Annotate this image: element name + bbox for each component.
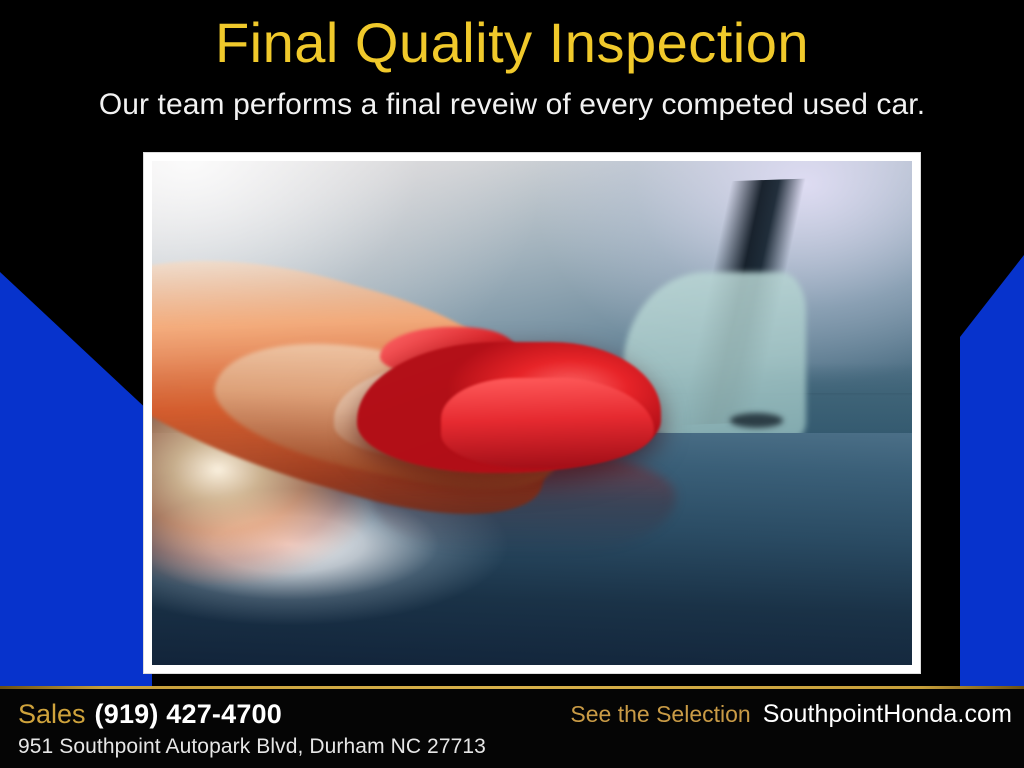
photo-red-cloth-front: [441, 378, 654, 469]
photo-glass-speck: [730, 413, 783, 428]
slide-canvas: Final Quality Inspection Our team perfor…: [0, 0, 1024, 768]
blue-wedge-left: [0, 258, 152, 688]
blue-wedge-right: [924, 255, 1024, 688]
dealership-address: 951 Southpoint Autopark Blvd, Durham NC …: [18, 734, 486, 760]
page-title: Final Quality Inspection: [0, 12, 1024, 74]
phone-number[interactable]: (919) 427-4700: [95, 699, 282, 729]
footer-bar: Sales (919) 427-4700 951 Southpoint Auto…: [0, 686, 1024, 768]
sales-contact-group: Sales (919) 427-4700: [18, 699, 282, 729]
website-link[interactable]: SouthpointHonda.com: [763, 700, 1012, 728]
see-the-selection-label: See the Selection: [570, 700, 750, 728]
website-group: See the Selection SouthpointHonda.com: [570, 700, 1012, 728]
footer-gold-divider: [0, 686, 1024, 689]
page-subtitle: Our team performs a final reveiw of ever…: [0, 86, 1024, 124]
photo-frame: [144, 153, 920, 673]
sales-label: Sales: [18, 699, 86, 729]
photo-image: [152, 161, 912, 665]
